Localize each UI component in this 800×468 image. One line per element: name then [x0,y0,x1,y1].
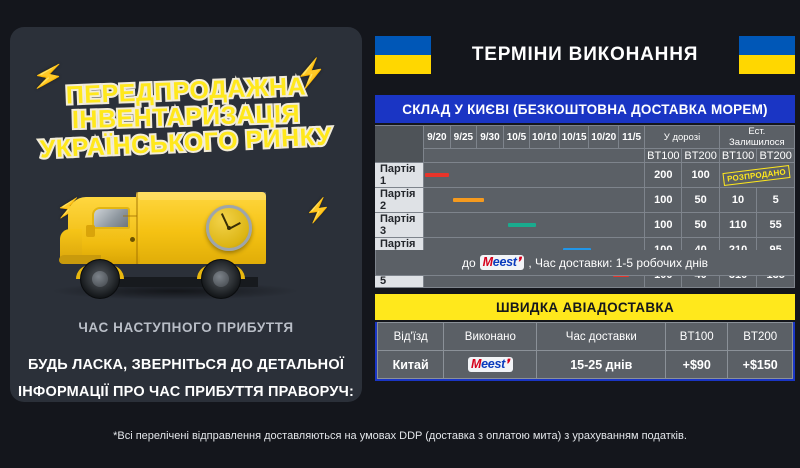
table-header-row-subs: BT100 BT200 BT100 BT200 [375,149,795,163]
meest-logo-swoosh: ❜ [505,357,509,371]
date-tick-3: 10/5 [503,126,530,149]
air-schedule-table: Від'їзд Виконано Час доставки BT100 BT20… [375,322,795,381]
meest-note-prefix: до [462,256,476,270]
remaining-bt100: 10 [719,188,757,213]
meest-logo-eest: eest [493,255,517,269]
remaining-bt200: 5 [757,188,795,213]
schedule-panel: ТЕРМІНИ ВИКОНАННЯ СКЛАД У КИЄВІ (БЕЗКОШТ… [370,0,800,468]
col-header-bt200: BT200 [728,323,793,351]
batch-label: Партія 2 [375,188,424,213]
promo-card: ⚡ ⚡ ⚡ ⚡ ПЕРЕДПРОДАЖНА ІНВЕНТАРИЗАЦІЯ УКР… [10,27,362,402]
date-tick-1: 9/25 [450,126,477,149]
page-title: ПЕРЕДПРОДАЖНА ІНВЕНТАРИЗАЦІЯ УКРАЇНСЬКОГ… [10,77,362,158]
meest-logo: Meest❜ [480,255,525,271]
transit-bt100: 200 [645,163,682,188]
gantt-bar [425,173,449,177]
flag-yellow-band [375,55,431,74]
date-tick-7: 11/5 [619,126,645,149]
transit-bt100: 100 [645,213,682,238]
clock-center-pin [227,226,231,230]
gantt-track [424,213,645,238]
sub-header-transit-bt200: BT200 [682,149,719,163]
col-header-carrier: Виконано [444,323,537,351]
gantt-track [424,188,645,213]
truck-panel-seam [123,215,137,217]
status-badge: РОЗПРОДАНО [723,164,791,185]
cell-bt200: +$150 [728,351,793,379]
remaining-bt200: 55 [757,213,795,238]
footnote: *Всі перелічені відправлення доставляють… [0,430,800,442]
cell-departure: Китай [378,351,444,379]
date-tick-5: 10/15 [559,126,589,149]
truck-panel-seam [136,192,138,264]
group-header-remaining: Ест. Залишилося [719,126,794,149]
date-tick-2: 9/30 [477,126,504,149]
date-tick-6: 10/20 [589,126,619,149]
table-row: Партія 2 100 50 10 5 [375,188,795,213]
batch-label: Партія 1 [375,163,424,188]
meest-note-suffix: , Час доставки: 1-5 робочих днів [528,256,708,270]
sub-header-remaining-bt200: BT200 [757,149,795,163]
meest-logo-swoosh: ❜ [517,255,521,269]
truck-mirror [86,225,95,237]
cell-lead-time: 15-25 днів [537,351,666,379]
transit-bt200: 100 [682,163,719,188]
table-header-row: Від'їзд Виконано Час доставки BT100 BT20… [378,323,793,351]
gantt-bar [508,223,537,227]
transit-bt200: 50 [682,188,719,213]
date-tick-0: 9/20 [424,126,451,149]
gantt-track [424,163,645,188]
delivery-truck-illustration [18,167,358,317]
ukraine-flag-icon [739,36,795,74]
sub-header-transit-bt100: BT100 [645,149,682,163]
transit-bt200: 50 [682,213,719,238]
table-row: Партія 3 100 50 110 55 [375,213,795,238]
flag-blue-band [739,36,795,55]
corner-cell [375,126,424,163]
remaining-sold-out: РОЗПРОДАНО [719,163,794,188]
table-header-row-dates: 9/20 9/25 9/30 10/5 10/10 10/15 10/20 11… [375,126,795,149]
cell-bt100: +$90 [666,351,728,379]
date-tick-4: 10/10 [530,126,560,149]
table-row: Китай Meest❜ 15-25 днів +$90 +$150 [378,351,793,379]
col-header-lead-time: Час доставки [537,323,666,351]
instruction-line-2: ІНФОРМАЦІЇ ПРО ЧАС ПРИБУТТЯ ПРАВОРУЧ: [10,379,362,402]
flag-yellow-band [739,55,795,74]
truck-wheel [201,259,241,299]
gantt-bar [453,198,484,202]
clock-icon [206,205,252,251]
truck-door-handle [130,237,135,242]
truck-wheel [80,259,120,299]
next-arrival-subtitle: ЧАС НАСТУПНОГО ПРИБУТТЯ [10,320,362,335]
col-header-departure: Від'їзд [378,323,444,351]
air-shipping-header: ШВИДКА АВІАДОСТАВКА [375,294,795,320]
meest-logo: Meest❜ [468,357,513,373]
cell-carrier: Meest❜ [444,351,537,379]
truck-window [92,207,130,229]
instruction-line-1: БУДЬ ЛАСКА, ЗВЕРНІТЬСЯ ДО ДЕТАЛЬНОЇ [10,352,362,379]
batch-label: Партія 3 [375,213,424,238]
meest-logo-eest: eest [481,357,505,371]
ukraine-flag-icon [375,36,431,74]
flag-blue-band [375,36,431,55]
spacer-cell [424,149,645,163]
transit-bt100: 100 [645,188,682,213]
panel-header: ТЕРМІНИ ВИКОНАННЯ [375,30,795,80]
panel-title: ТЕРМІНИ ВИКОНАННЯ [431,44,739,66]
sea-shipping-header: СКЛАД У КИЄВІ (БЕЗКОШТОВНА ДОСТАВКА МОРЕ… [375,95,795,123]
table-row: Партія 1 200 100 РОЗПРОДАНО [375,163,795,188]
group-header-in-transit: У дорозі [645,126,720,149]
meest-delivery-note: до Meest❜ , Час доставки: 1-5 робочих дн… [375,250,795,276]
col-header-bt100: BT100 [666,323,728,351]
instruction-text: БУДЬ ЛАСКА, ЗВЕРНІТЬСЯ ДО ДЕТАЛЬНОЇ ІНФО… [10,352,362,402]
meest-logo-m: M [471,357,481,371]
remaining-bt100: 110 [719,213,757,238]
meest-logo-m: M [483,255,493,269]
sub-header-remaining-bt100: BT100 [719,149,757,163]
